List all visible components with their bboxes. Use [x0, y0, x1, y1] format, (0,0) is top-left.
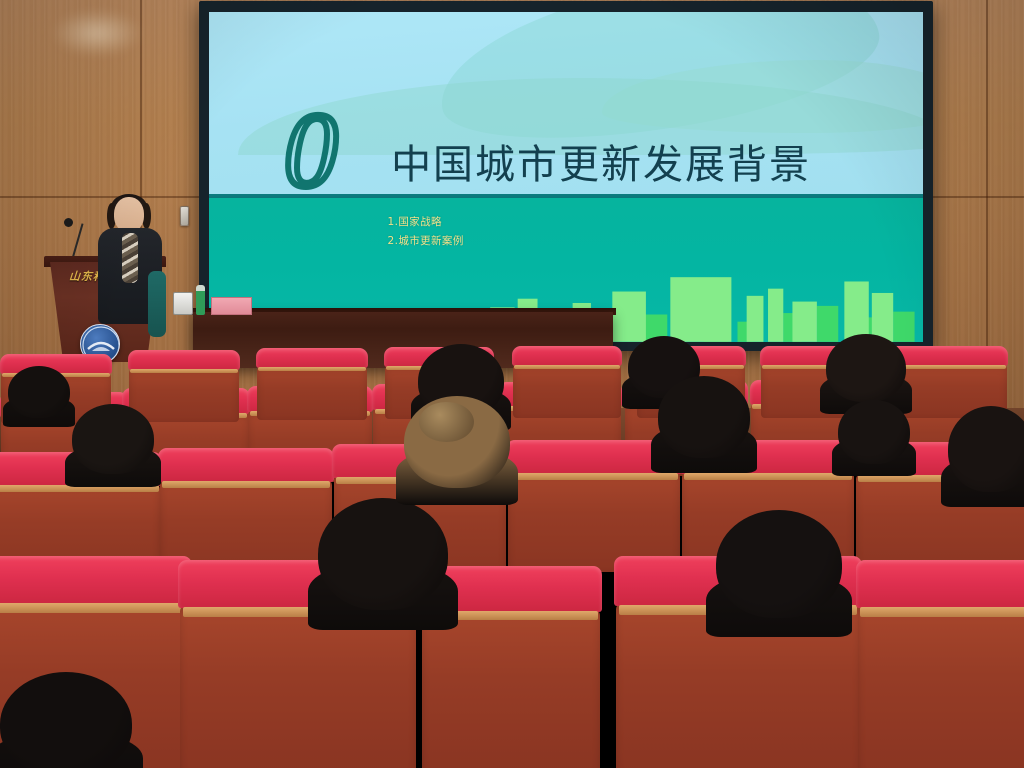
seat-cushion	[158, 448, 334, 482]
seat-trim	[684, 473, 853, 480]
seat-cushion	[512, 346, 622, 366]
skyline-building	[768, 289, 783, 342]
seat-cushion	[0, 556, 192, 604]
seat-trim	[130, 369, 238, 373]
audience-head	[838, 400, 910, 464]
slide-bullet-item: 1.国家战略	[388, 213, 464, 231]
audience-member	[826, 334, 906, 402]
audience-head	[658, 376, 750, 458]
slide-section-number: 0	[284, 104, 336, 198]
audience-head	[948, 406, 1024, 492]
slide-bullet-list: 1.国家战略 2.城市更新案例	[388, 213, 464, 250]
seat-trim	[258, 367, 366, 371]
audience-member	[8, 366, 70, 418]
wall-switch[interactable]	[180, 206, 189, 226]
audience-member	[0, 672, 132, 768]
lecture-hall-scene: 0 中国城市更新发展背景 1.国家战略 2.城市更新案例 山东科技大学	[0, 0, 1024, 768]
auditorium-seat[interactable]	[256, 348, 368, 420]
seat-back	[422, 610, 600, 768]
audience-head	[826, 334, 906, 402]
audience-member	[838, 400, 910, 464]
hair-bun	[419, 402, 474, 442]
laptop[interactable]	[173, 292, 193, 315]
seat-trim	[860, 607, 1024, 617]
audience-member	[404, 396, 510, 488]
seat-cushion	[888, 346, 1008, 366]
skyline-building	[613, 292, 647, 342]
seat-trim	[162, 481, 331, 488]
ceiling-light-reflection	[52, 10, 142, 56]
skyline-building	[793, 302, 817, 342]
presenter-scarf	[122, 233, 138, 283]
audience-member	[72, 404, 154, 474]
skyline-building	[671, 277, 732, 342]
skyline-building	[747, 296, 764, 342]
water-bottle[interactable]	[196, 285, 205, 315]
audience-head	[8, 366, 70, 418]
name-card	[211, 297, 252, 315]
slide-bullet-item: 2.城市更新案例	[388, 232, 464, 250]
slide-title: 中国城市更新发展背景	[391, 132, 811, 190]
seat-back	[257, 366, 367, 420]
auditorium-seat[interactable]	[512, 346, 622, 418]
projection-screen: 0 中国城市更新发展背景 1.国家战略 2.城市更新案例	[199, 1, 933, 351]
seat-back	[858, 606, 1024, 768]
audience-member	[318, 498, 448, 610]
seat-cushion	[128, 350, 240, 370]
microphone-icon	[64, 218, 73, 227]
presenter	[98, 197, 164, 339]
seat-trim	[0, 603, 187, 613]
skyline-building	[845, 282, 869, 342]
audience-member	[658, 376, 750, 458]
seat-trim	[514, 365, 620, 369]
seat-cushion	[256, 348, 368, 368]
audience-head	[716, 510, 842, 618]
seat-trim	[510, 473, 679, 480]
seat-back	[180, 606, 415, 768]
audience-head	[72, 404, 154, 474]
seat-trim	[890, 365, 1005, 369]
presentation-slide: 0 中国城市更新发展背景 1.国家战略 2.城市更新案例	[209, 12, 923, 342]
seat-back	[513, 364, 621, 418]
audience-member	[716, 510, 842, 618]
audience-head	[0, 672, 132, 768]
audience-member	[948, 406, 1024, 492]
presenter-arm	[148, 271, 166, 337]
audience-head	[318, 498, 448, 610]
auditorium-seat[interactable]	[856, 560, 1024, 768]
wall-panel-seam	[930, 196, 1024, 198]
seat-cushion	[856, 560, 1024, 608]
